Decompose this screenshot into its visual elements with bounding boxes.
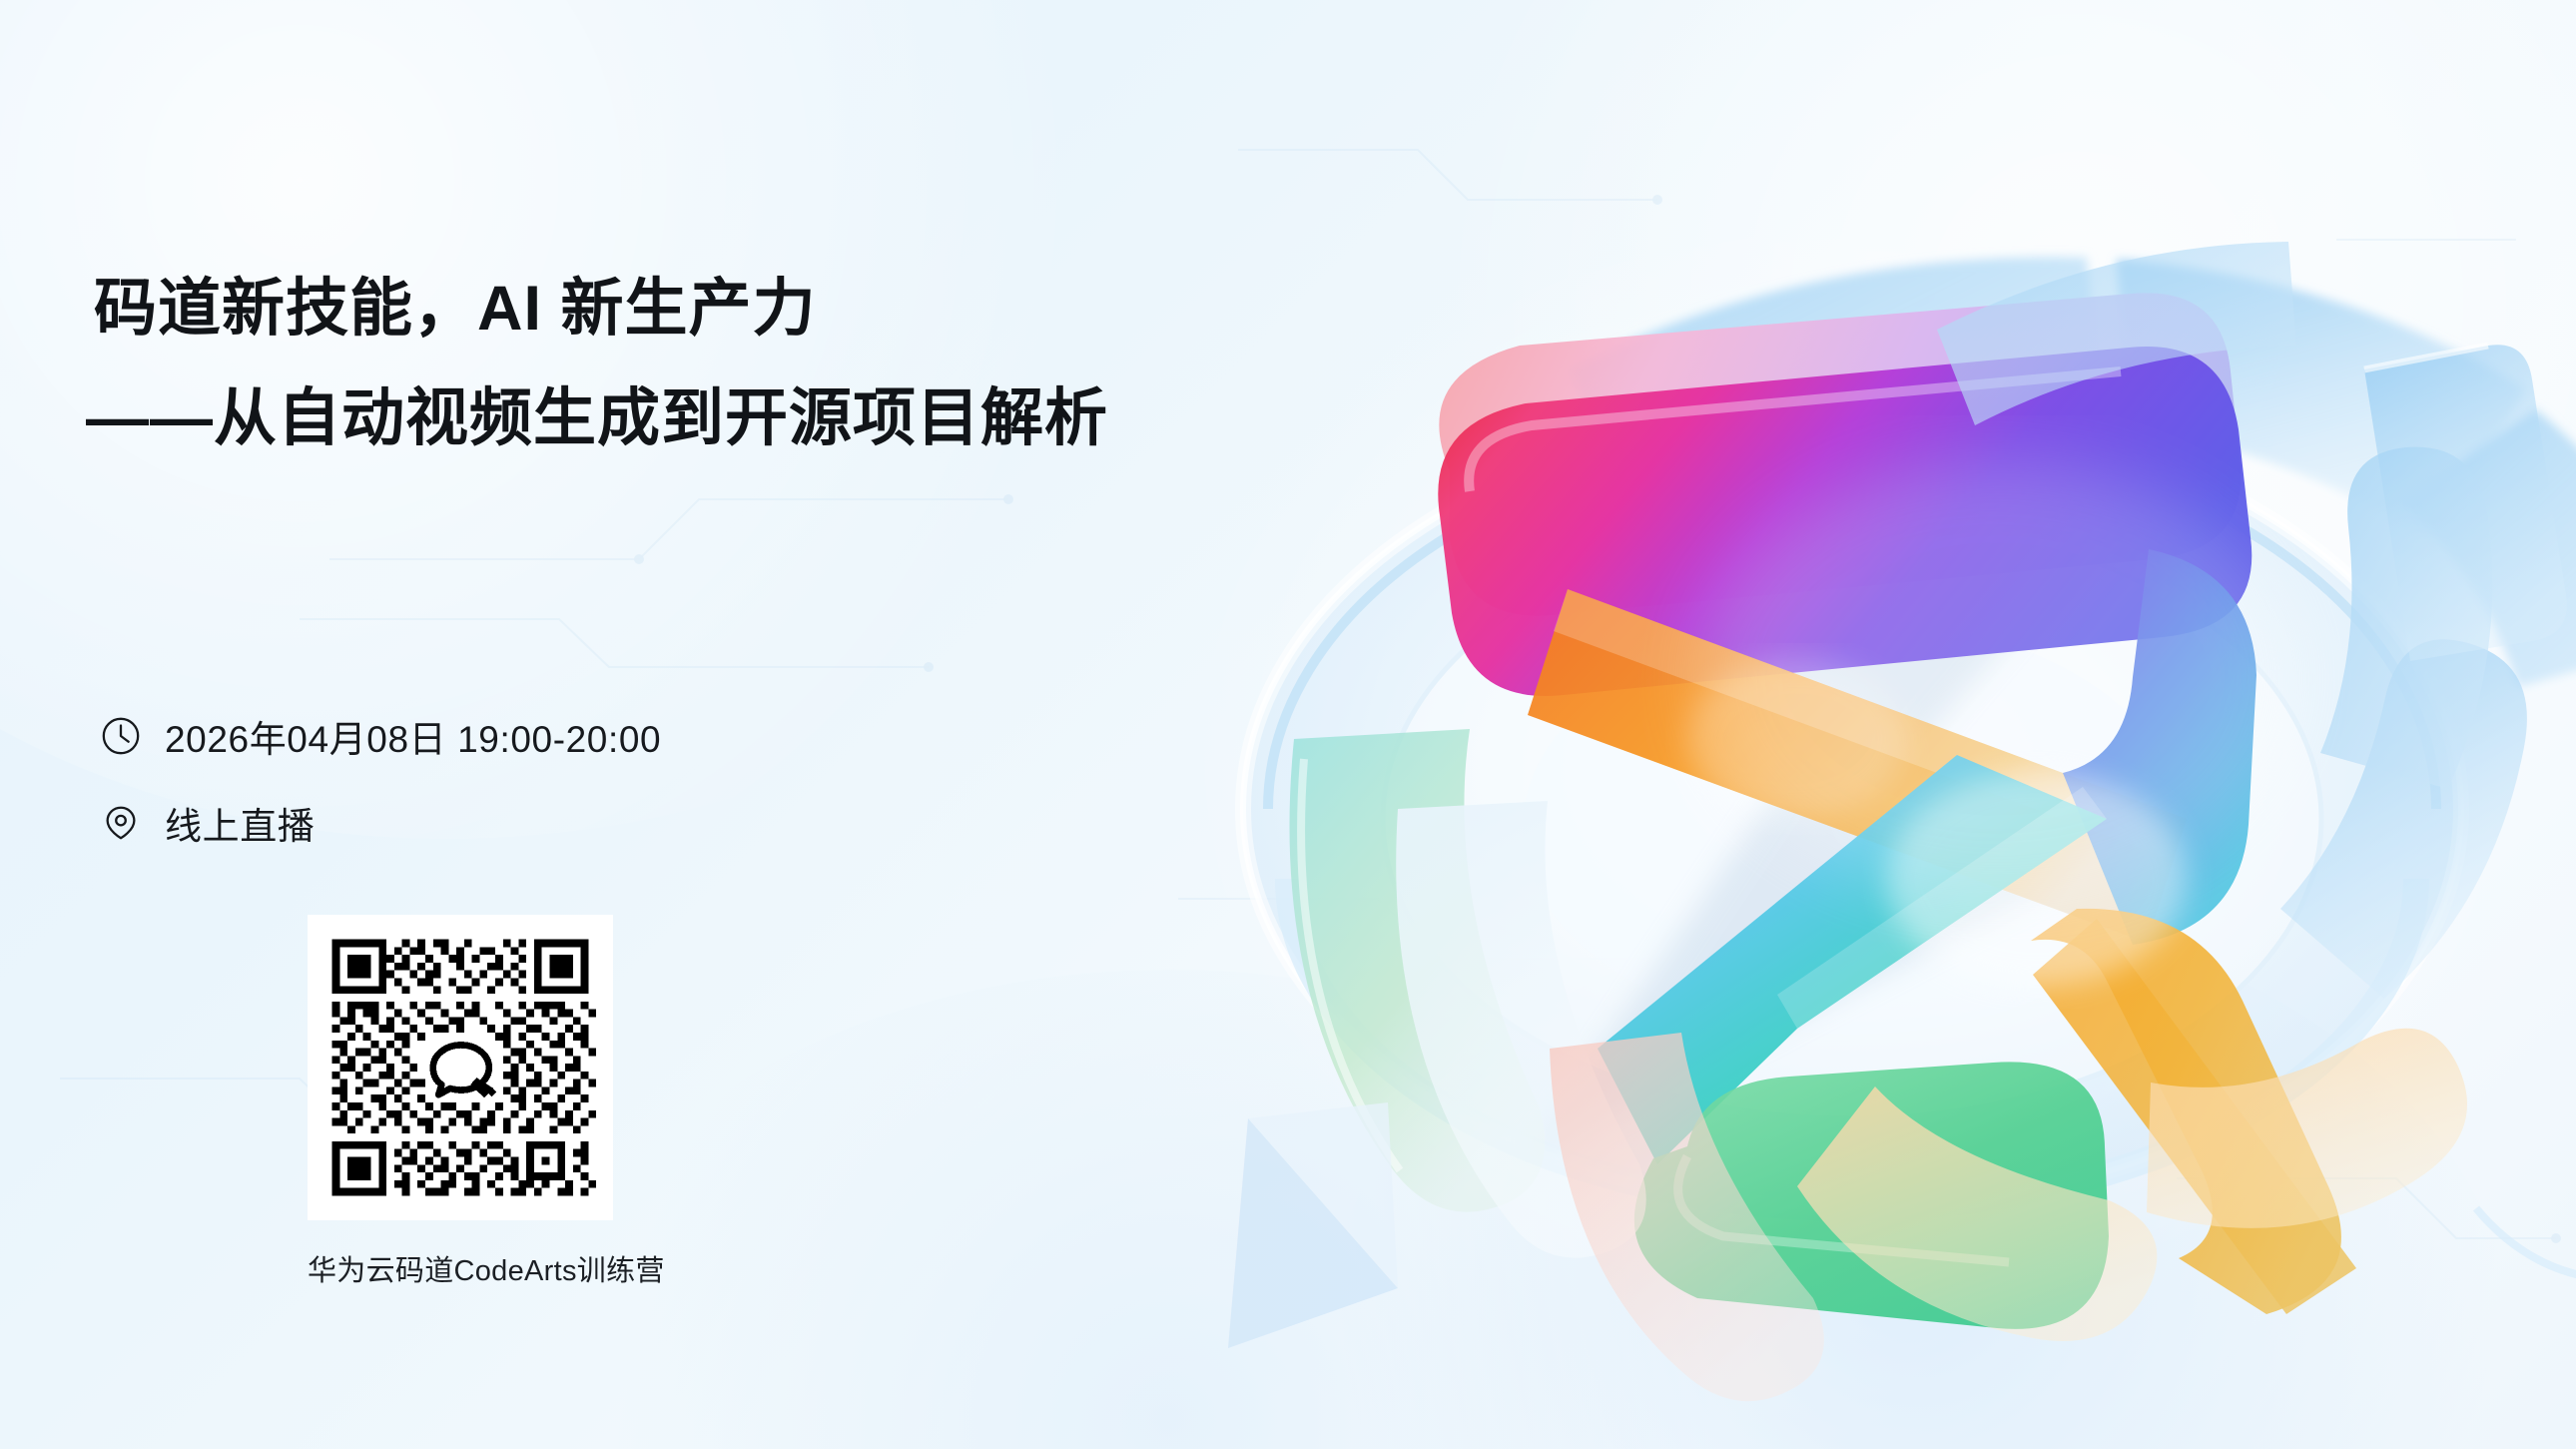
ring-panels-front [1289,242,2566,1401]
ring-outer-arc [1243,409,2461,1208]
qr-caption: 华为云码道CodeArts训练营 [308,1247,613,1289]
event-datetime-text: 2026年04月08日 19:00-20:00 [165,709,661,763]
floating-shards [1228,1102,2576,1348]
event-meta: 2026年04月08日 19:00-20:00 线上直播 [100,709,661,883]
background-wash-top-right [1378,0,2576,899]
title-line-1: 码道新技能，AI 新生产力 [94,278,1108,341]
event-location-text: 线上直播 [165,796,315,850]
background-wash-bottom-right [1318,910,2516,1449]
ring-panels-back [1243,258,2576,1209]
clock-icon [100,715,142,757]
location-pin-icon [100,802,142,844]
meta-row-datetime: 2026年04月08日 19:00-20:00 [100,709,661,763]
page-title: 码道新技能，AI 新生产力 ——从自动视频生成到开源项目解析 [94,278,1108,450]
meta-row-location: 线上直播 [100,796,661,850]
qr-code[interactable] [308,915,613,1220]
ribbon-zigzag [1438,293,2356,1329]
qr-block: 华为云码道CodeArts训练营 [308,915,613,1289]
poster-root: 码道新技能，AI 新生产力 ——从自动视频生成到开源项目解析 2026年04月0… [0,0,2576,1449]
title-line-2: ——从自动视频生成到开源项目解析 [86,387,1108,450]
content-column: 码道新技能，AI 新生产力 ——从自动视频生成到开源项目解析 2026年04月0… [94,0,1392,1449]
